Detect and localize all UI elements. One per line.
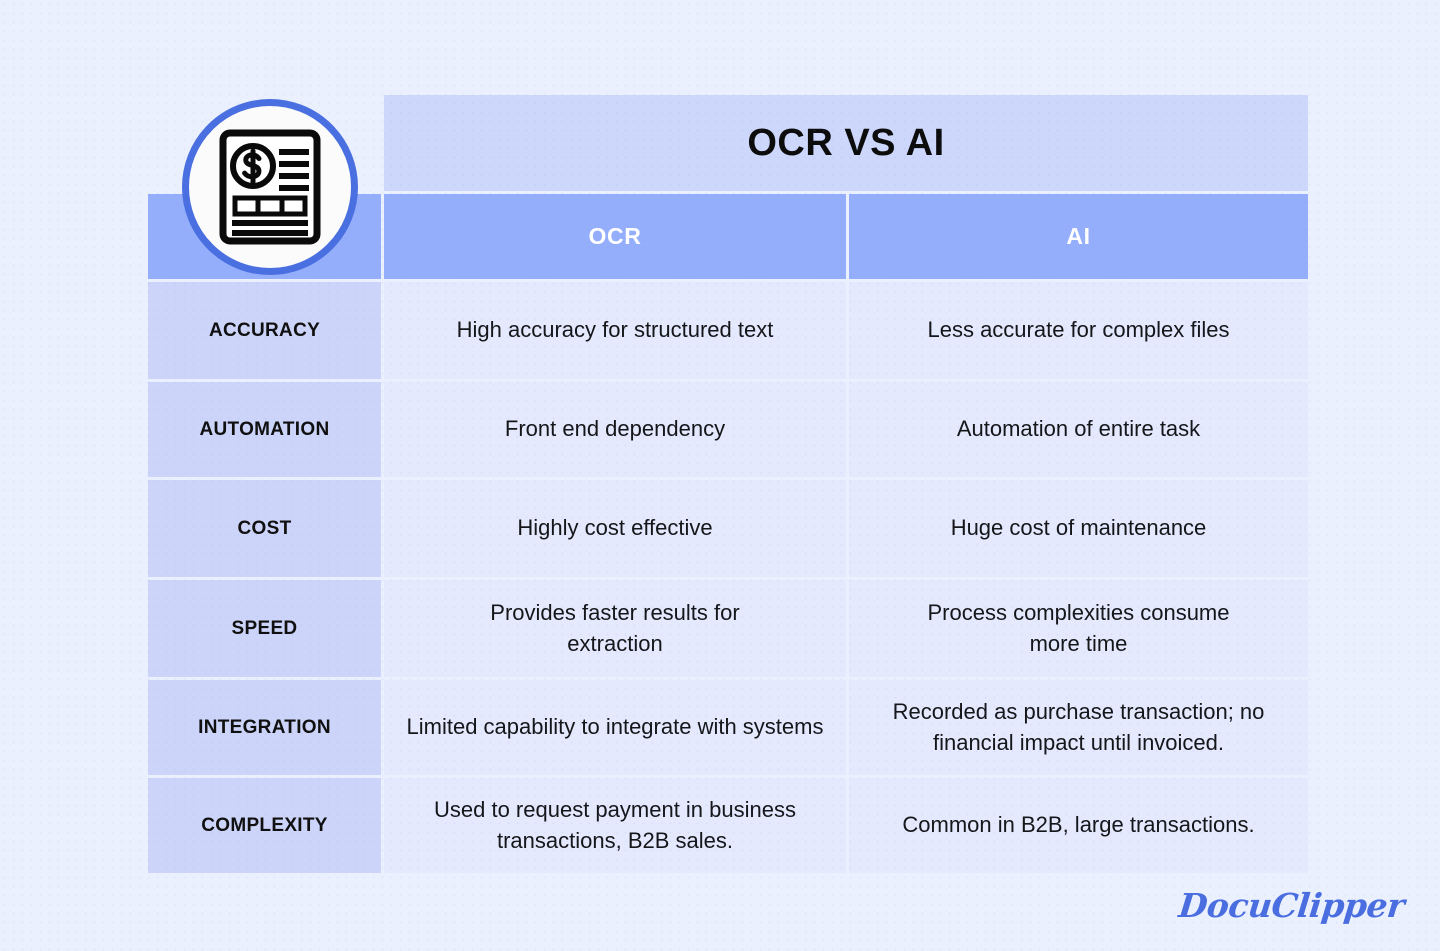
row-label-accuracy: ACCURACY bbox=[148, 282, 381, 379]
row-label-cost: COST bbox=[148, 480, 381, 577]
cell-integration-ai: Recorded as purchase transaction; no fin… bbox=[849, 680, 1308, 775]
invoice-document-dollar-icon bbox=[182, 99, 358, 275]
row-label-automation: AUTOMATION bbox=[148, 382, 381, 477]
row-label-speed: SPEED bbox=[148, 580, 381, 677]
cell-cost-ocr: Highly cost effective bbox=[384, 480, 846, 577]
cell-integration-ocr: Limited capability to integrate with sys… bbox=[384, 680, 846, 775]
cell-cost-ai: Huge cost of maintenance bbox=[849, 480, 1308, 577]
row-label-complexity: COMPLEXITY bbox=[148, 778, 381, 873]
cell-accuracy-ai: Less accurate for complex files bbox=[849, 282, 1308, 379]
row-label-integration: INTEGRATION bbox=[148, 680, 381, 775]
column-header-ocr: OCR bbox=[384, 194, 846, 279]
cell-automation-ocr: Front end dependency bbox=[384, 382, 846, 477]
docuclipper-logo: DocuClipper bbox=[1177, 886, 1406, 925]
column-header-ai: AI bbox=[849, 194, 1308, 279]
cell-automation-ai: Automation of entire task bbox=[849, 382, 1308, 477]
cell-accuracy-ocr: High accuracy for structured text bbox=[384, 282, 846, 379]
cell-complexity-ocr: Used to request payment in business tran… bbox=[384, 778, 846, 873]
cell-complexity-ai: Common in B2B, large transactions. bbox=[849, 778, 1308, 873]
table-title: OCR VS AI bbox=[384, 95, 1308, 191]
cell-speed-ocr: Provides faster results for extraction bbox=[384, 580, 846, 677]
cell-speed-ai: Process complexities consume more time bbox=[849, 580, 1308, 677]
